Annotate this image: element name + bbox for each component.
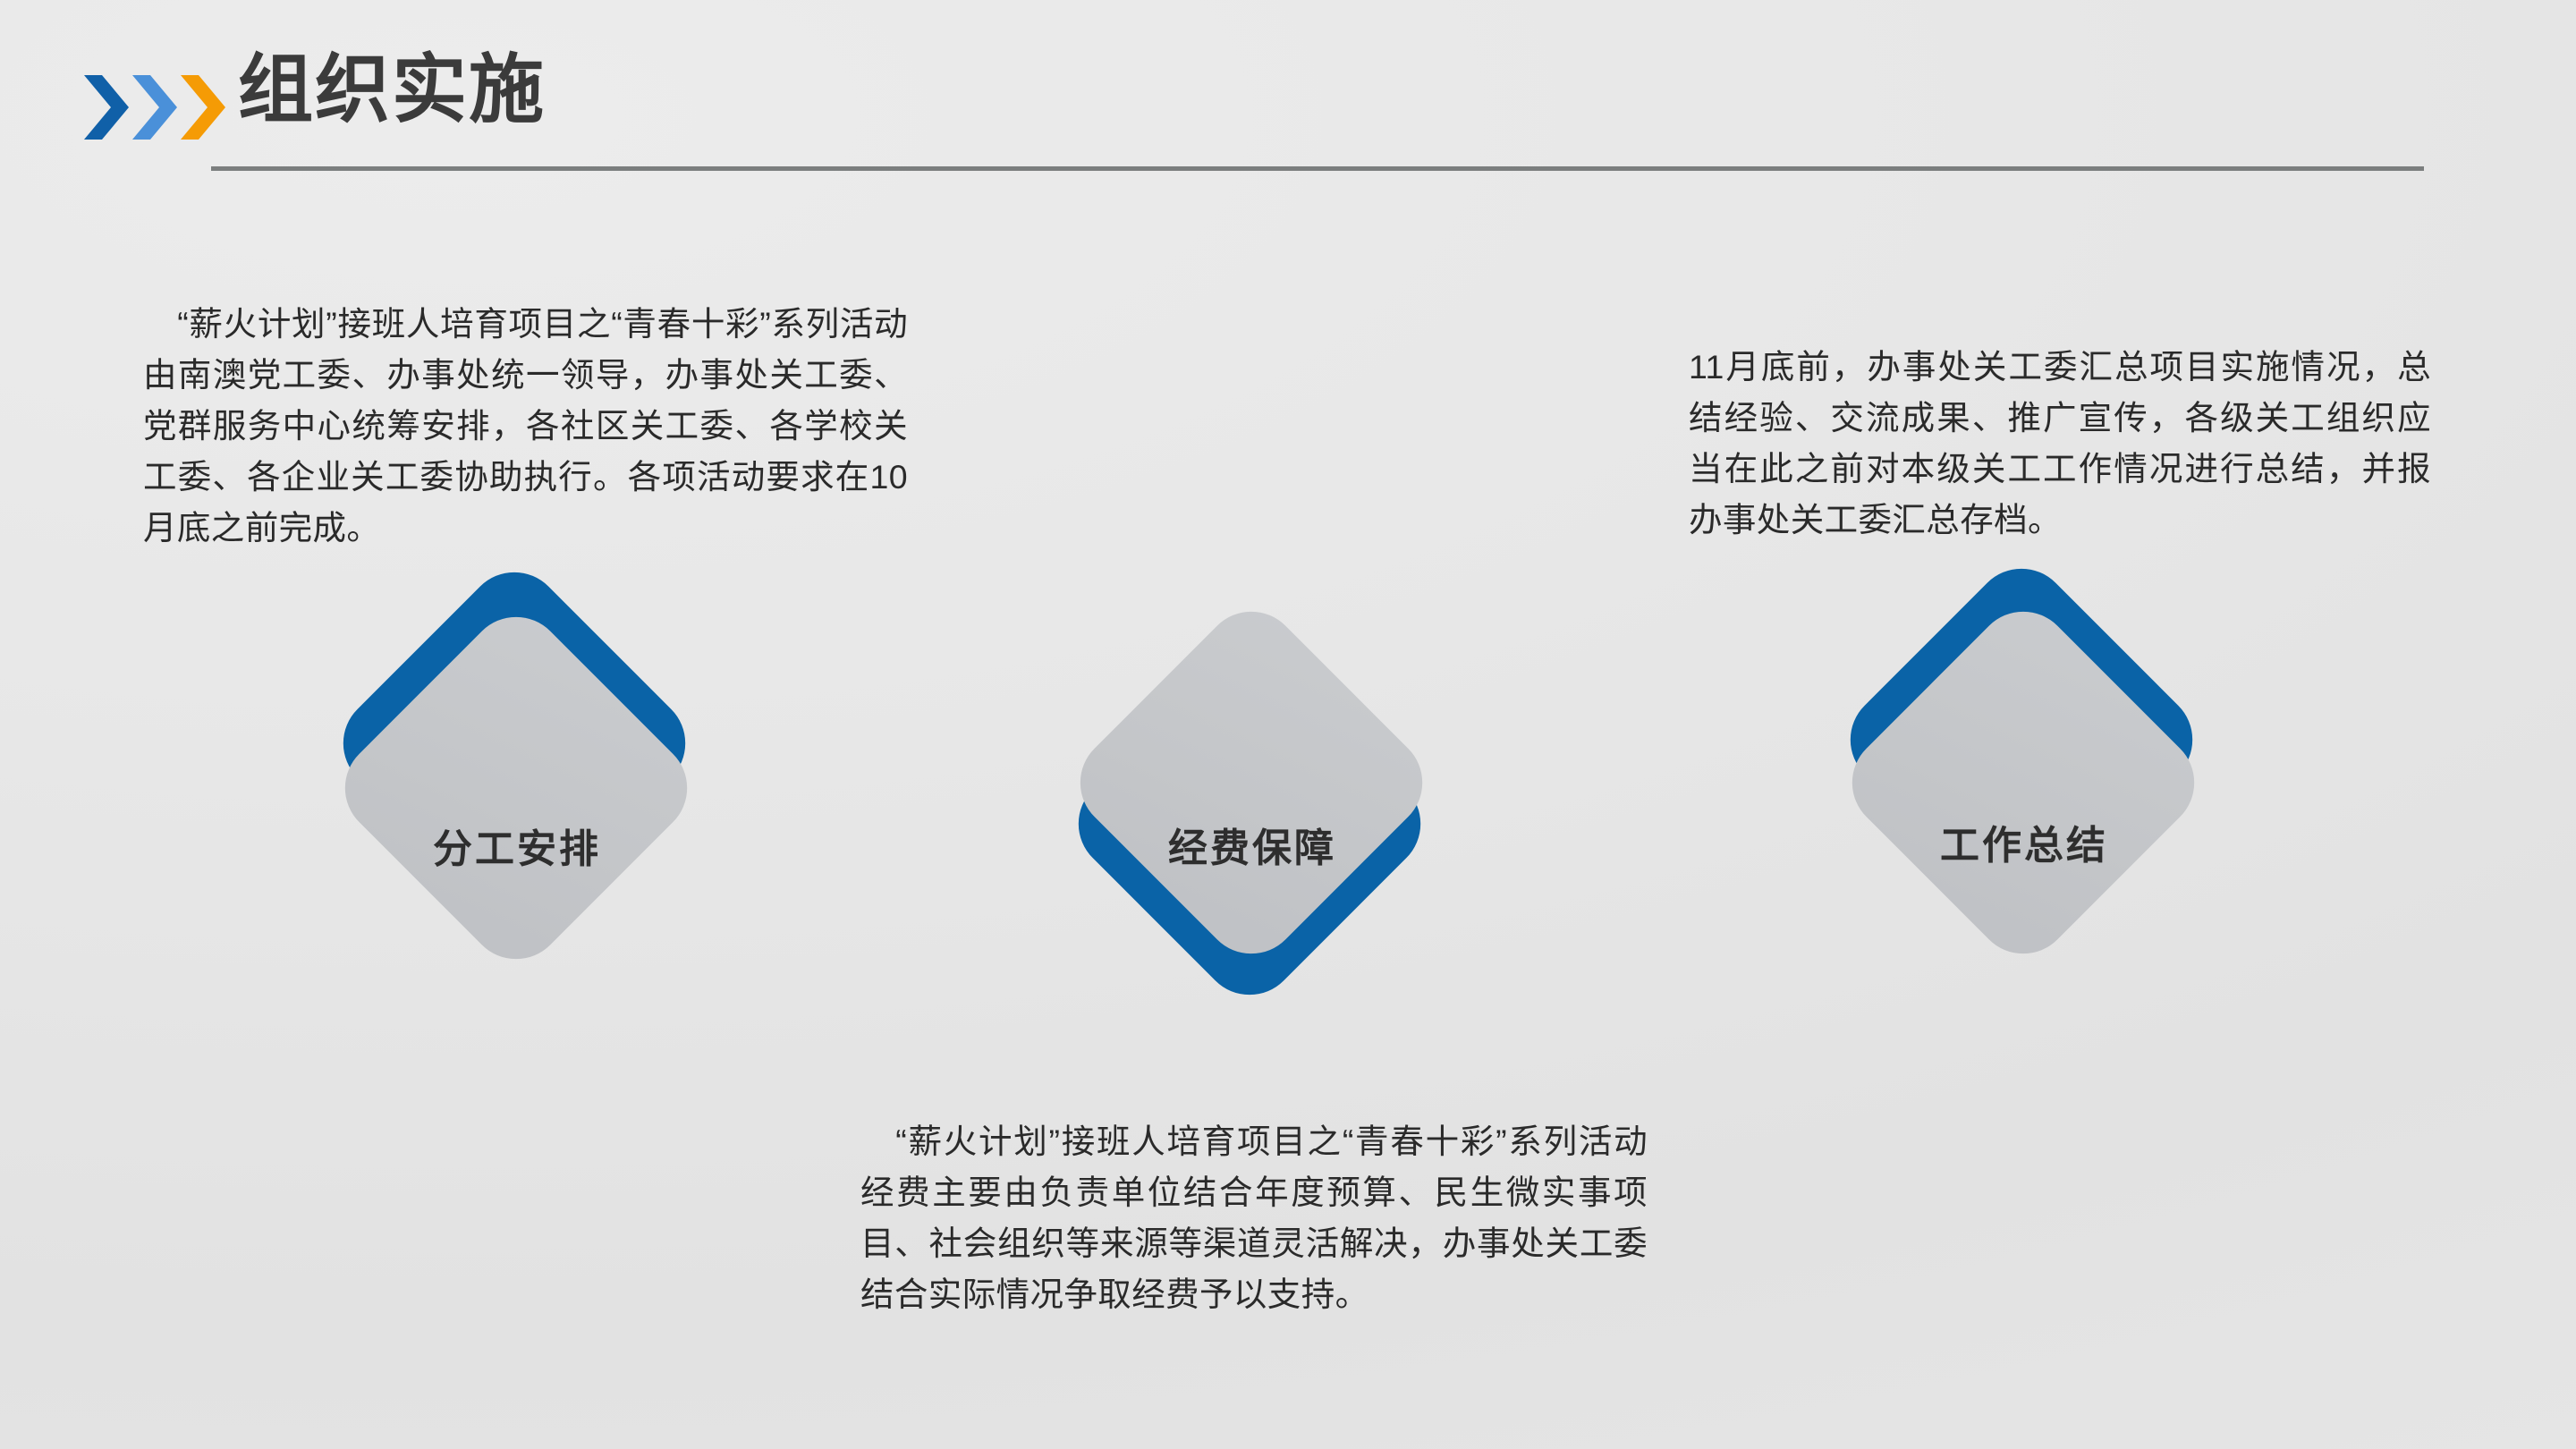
slide-header: 组织实施 bbox=[0, 0, 2576, 188]
chevron-3-icon bbox=[181, 75, 225, 140]
diamond-label: 经费保障 bbox=[1046, 829, 1458, 869]
paragraph-division-of-work: “薪火计划”接班人培育项目之“青春十彩”系列活动由南澳党工委、办事处统一领导，办… bbox=[143, 299, 908, 554]
diamond-card-division-of-work[interactable]: 分工安排 bbox=[311, 587, 723, 1052]
chevron-2-icon bbox=[132, 75, 177, 140]
chevron-1-icon bbox=[84, 75, 129, 140]
diamond-card-funding-guarantee[interactable]: 经费保障 bbox=[1046, 587, 1458, 1052]
title-divider bbox=[211, 166, 2424, 171]
chevron-triple-icon bbox=[82, 73, 234, 141]
diamond-shape-gray bbox=[1832, 591, 2214, 973]
diamond-shape-gray bbox=[325, 597, 707, 979]
diamond-card-work-summary[interactable]: 工作总结 bbox=[1818, 585, 2230, 1050]
paragraph-work-summary: 11月底前，办事处关工委汇总项目实施情况，总结经验、交流成果、推广宣传，各级关工… bbox=[1689, 342, 2431, 546]
diamond-shape-gray bbox=[1060, 591, 1442, 973]
diamond-label: 工作总结 bbox=[1818, 826, 2230, 866]
paragraph-funding-guarantee: “薪火计划”接班人培育项目之“青春十彩”系列活动经费主要由负责单位结合年度预算、… bbox=[860, 1116, 1648, 1320]
page-title: 组织实施 bbox=[238, 52, 546, 127]
slide-canvas: 组织实施 “薪火计划”接班人培育项目之“青春十彩”系列活动由南澳党工委、办事处统… bbox=[0, 0, 2576, 1449]
diamond-label: 分工安排 bbox=[311, 830, 723, 869]
